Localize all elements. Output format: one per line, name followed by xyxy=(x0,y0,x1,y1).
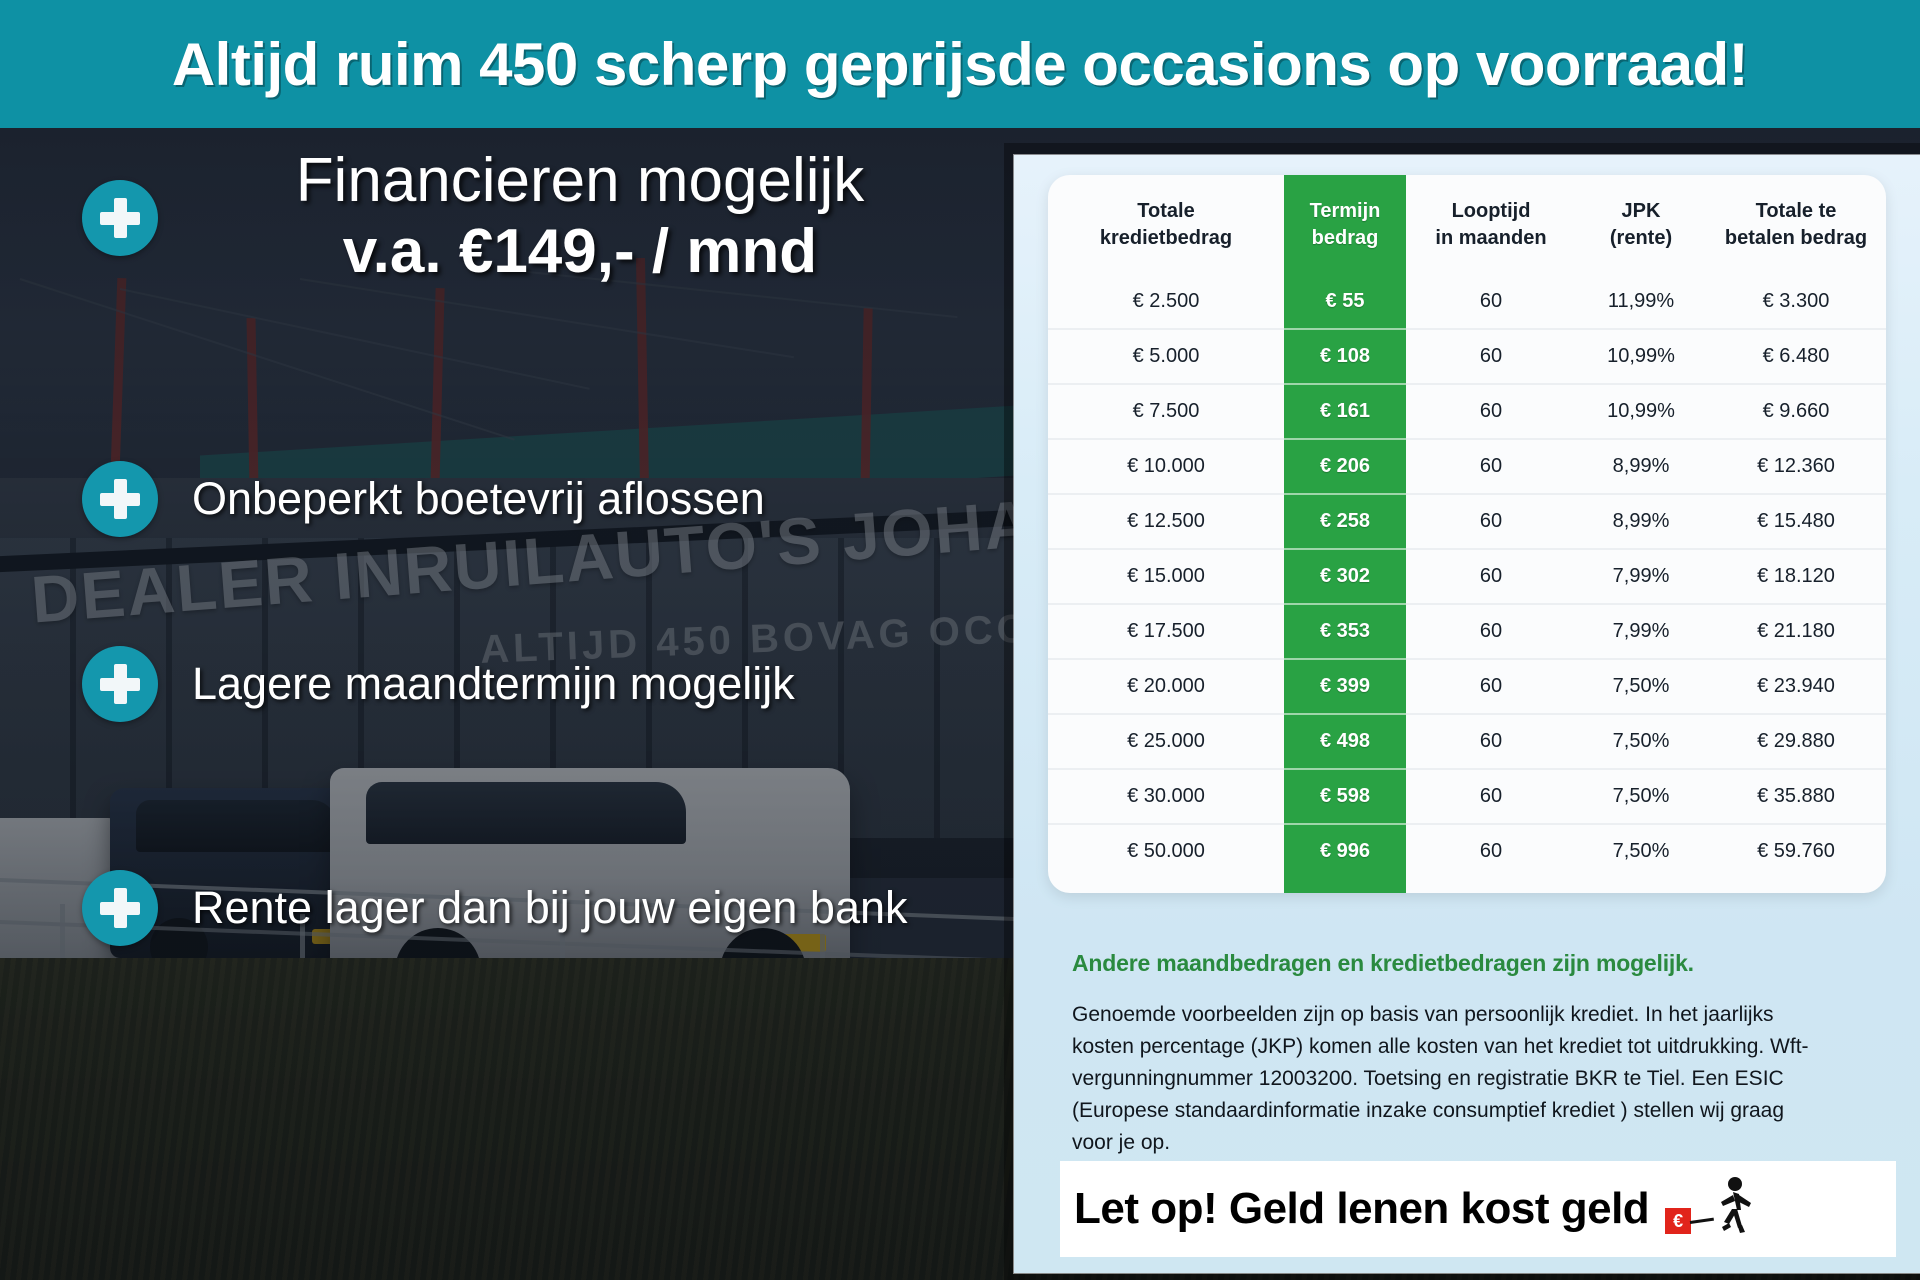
header-line-1: Looptijd xyxy=(1452,200,1531,222)
table-cell: € 21.180 xyxy=(1706,604,1886,659)
table-cell: 60 xyxy=(1406,549,1576,604)
column-header-kredietbedrag: Totale kredietbedrag xyxy=(1048,175,1284,275)
table-cell: € 17.500 xyxy=(1048,604,1284,659)
table-row: € 30.000€ 598607,50%€ 35.880 xyxy=(1048,769,1886,824)
table-cell: 60 xyxy=(1406,604,1576,659)
table-row: € 12.500€ 258608,99%€ 15.480 xyxy=(1048,494,1886,549)
table-cell: € 258 xyxy=(1284,494,1406,549)
table-cell: € 399 xyxy=(1284,659,1406,714)
table-cell: € 59.760 xyxy=(1706,824,1886,878)
table-row: € 5.000€ 1086010,99%€ 6.480 xyxy=(1048,329,1886,384)
table-cell: € 302 xyxy=(1284,549,1406,604)
table-row: € 7.500€ 1616010,99%€ 9.660 xyxy=(1048,384,1886,439)
header-line-1: JPK xyxy=(1622,200,1661,222)
header-line-2: in maanden xyxy=(1435,227,1546,249)
table-cell: 7,50% xyxy=(1576,824,1706,878)
table-cell: 60 xyxy=(1406,439,1576,494)
disclaimer-block: Andere maandbedragen en kredietbedragen … xyxy=(1072,950,1882,1159)
table-cell: € 498 xyxy=(1284,714,1406,769)
feature-item-aflossen: Onbeperkt boetevrij aflossen xyxy=(82,461,765,537)
table-cell: 60 xyxy=(1406,384,1576,439)
table-cell: 7,99% xyxy=(1576,604,1706,659)
plus-icon xyxy=(82,180,158,256)
column-header-termijnbedrag: Termijn bedrag xyxy=(1284,175,1406,275)
disclaimer-title: Andere maandbedragen en kredietbedragen … xyxy=(1072,950,1882,977)
table-row: € 50.000€ 996607,50%€ 59.760 xyxy=(1048,824,1886,878)
table-cell: € 12.500 xyxy=(1048,494,1284,549)
headline-block: Financieren mogelijk v.a. €149,- / mnd xyxy=(150,148,1010,291)
table-cell: 8,99% xyxy=(1576,439,1706,494)
feature-label: Lagere maandtermijn mogelijk xyxy=(192,658,795,710)
table-cell: 7,99% xyxy=(1576,549,1706,604)
rates-card: Totale kredietbedrag Termijn bedrag Loop… xyxy=(1048,175,1886,893)
table-cell: € 9.660 xyxy=(1706,384,1886,439)
table-cell: € 30.000 xyxy=(1048,769,1284,824)
page-subtitle: v.a. €149,- / mnd xyxy=(150,213,1010,291)
table-cell: € 108 xyxy=(1284,329,1406,384)
header-line-1: Totale te xyxy=(1756,200,1837,222)
euro-block-icon: € xyxy=(1665,1208,1691,1234)
table-cell: 8,99% xyxy=(1576,494,1706,549)
table-cell: 60 xyxy=(1406,769,1576,824)
feature-label: Onbeperkt boetevrij aflossen xyxy=(192,473,765,525)
warning-text: Let op! Geld lenen kost geld xyxy=(1074,1184,1649,1234)
table-cell: 10,99% xyxy=(1576,329,1706,384)
table-row: € 20.000€ 399607,50%€ 23.940 xyxy=(1048,659,1886,714)
warning-bar: Let op! Geld lenen kost geld € xyxy=(1060,1161,1896,1257)
table-cell: 60 xyxy=(1406,329,1576,384)
table-cell: € 18.120 xyxy=(1706,549,1886,604)
feature-item-maandtermijn: Lagere maandtermijn mogelijk xyxy=(82,646,795,722)
header-line-2: betalen bedrag xyxy=(1725,227,1867,249)
table-cell: 60 xyxy=(1406,659,1576,714)
column-header-jpk: JPK (rente) xyxy=(1576,175,1706,275)
table-cell: € 29.880 xyxy=(1706,714,1886,769)
table-cell: € 20.000 xyxy=(1048,659,1284,714)
table-cell: 11,99% xyxy=(1576,275,1706,329)
advertisement-banner: Altijd ruim 450 scherp geprijsde occasio… xyxy=(0,0,1920,1280)
table-row: € 15.000€ 302607,99%€ 18.120 xyxy=(1048,549,1886,604)
top-banner: Altijd ruim 450 scherp geprijsde occasio… xyxy=(0,0,1920,128)
table-cell: 60 xyxy=(1406,824,1576,878)
financing-panel: Totale kredietbedrag Termijn bedrag Loop… xyxy=(1014,155,1920,1273)
table-cell: 10,99% xyxy=(1576,384,1706,439)
plus-icon xyxy=(82,461,158,537)
table-cell: € 12.360 xyxy=(1706,439,1886,494)
table-cell: € 206 xyxy=(1284,439,1406,494)
table-header-row: Totale kredietbedrag Termijn bedrag Loop… xyxy=(1048,175,1886,275)
banner-headline: Altijd ruim 450 scherp geprijsde occasio… xyxy=(172,30,1748,99)
header-line-2: (rente) xyxy=(1610,227,1672,249)
table-cell: 60 xyxy=(1406,494,1576,549)
column-header-totaal: Totale te betalen bedrag xyxy=(1706,175,1886,275)
table-cell: 60 xyxy=(1406,714,1576,769)
table-cell: € 55 xyxy=(1284,275,1406,329)
table-cell: € 25.000 xyxy=(1048,714,1284,769)
walking-man-icon xyxy=(1709,1176,1753,1242)
euro-symbol: € xyxy=(1673,1212,1683,1230)
header-line-1: Totale xyxy=(1137,200,1194,222)
table-cell: € 7.500 xyxy=(1048,384,1284,439)
table-cell: € 10.000 xyxy=(1048,439,1284,494)
table-cell: € 35.880 xyxy=(1706,769,1886,824)
table-cell: 7,50% xyxy=(1576,659,1706,714)
table-cell: € 2.500 xyxy=(1048,275,1284,329)
table-row: € 17.500€ 353607,99%€ 21.180 xyxy=(1048,604,1886,659)
feature-item-financieren xyxy=(82,180,158,256)
plus-icon xyxy=(82,870,158,946)
table-body: € 2.500€ 556011,99%€ 3.300€ 5.000€ 10860… xyxy=(1048,275,1886,878)
table-cell: € 996 xyxy=(1284,824,1406,878)
table-cell: € 6.480 xyxy=(1706,329,1886,384)
table-cell: 60 xyxy=(1406,275,1576,329)
table-cell: 7,50% xyxy=(1576,714,1706,769)
afm-walking-man-with-euro-block-icon: € xyxy=(1665,1176,1753,1242)
table-cell: € 23.940 xyxy=(1706,659,1886,714)
column-header-looptijd: Looptijd in maanden xyxy=(1406,175,1576,275)
table-row: € 10.000€ 206608,99%€ 12.360 xyxy=(1048,439,1886,494)
table-row: € 25.000€ 498607,50%€ 29.880 xyxy=(1048,714,1886,769)
table-cell: € 15.000 xyxy=(1048,549,1284,604)
header-line-1: Termijn xyxy=(1310,200,1381,222)
table-cell: € 15.480 xyxy=(1706,494,1886,549)
feature-item-rente: Rente lager dan bij jouw eigen bank xyxy=(82,870,908,946)
table-cell: € 598 xyxy=(1284,769,1406,824)
header-line-2: kredietbedrag xyxy=(1100,227,1232,249)
table-cell: € 50.000 xyxy=(1048,824,1284,878)
disclaimer-body: Genoemde voorbeelden zijn op basis van p… xyxy=(1072,999,1824,1159)
header-line-2: bedrag xyxy=(1312,227,1379,249)
table-cell: € 3.300 xyxy=(1706,275,1886,329)
feature-label: Rente lager dan bij jouw eigen bank xyxy=(192,882,908,934)
rates-table: Totale kredietbedrag Termijn bedrag Loop… xyxy=(1048,175,1886,878)
table-cell: € 5.000 xyxy=(1048,329,1284,384)
table-cell: € 161 xyxy=(1284,384,1406,439)
table-row: € 2.500€ 556011,99%€ 3.300 xyxy=(1048,275,1886,329)
table-cell: € 353 xyxy=(1284,604,1406,659)
table-cell: 7,50% xyxy=(1576,769,1706,824)
left-content: Financieren mogelijk v.a. €149,- / mnd O… xyxy=(0,128,1030,1280)
plus-icon xyxy=(82,646,158,722)
page-title: Financieren mogelijk xyxy=(150,148,1010,213)
